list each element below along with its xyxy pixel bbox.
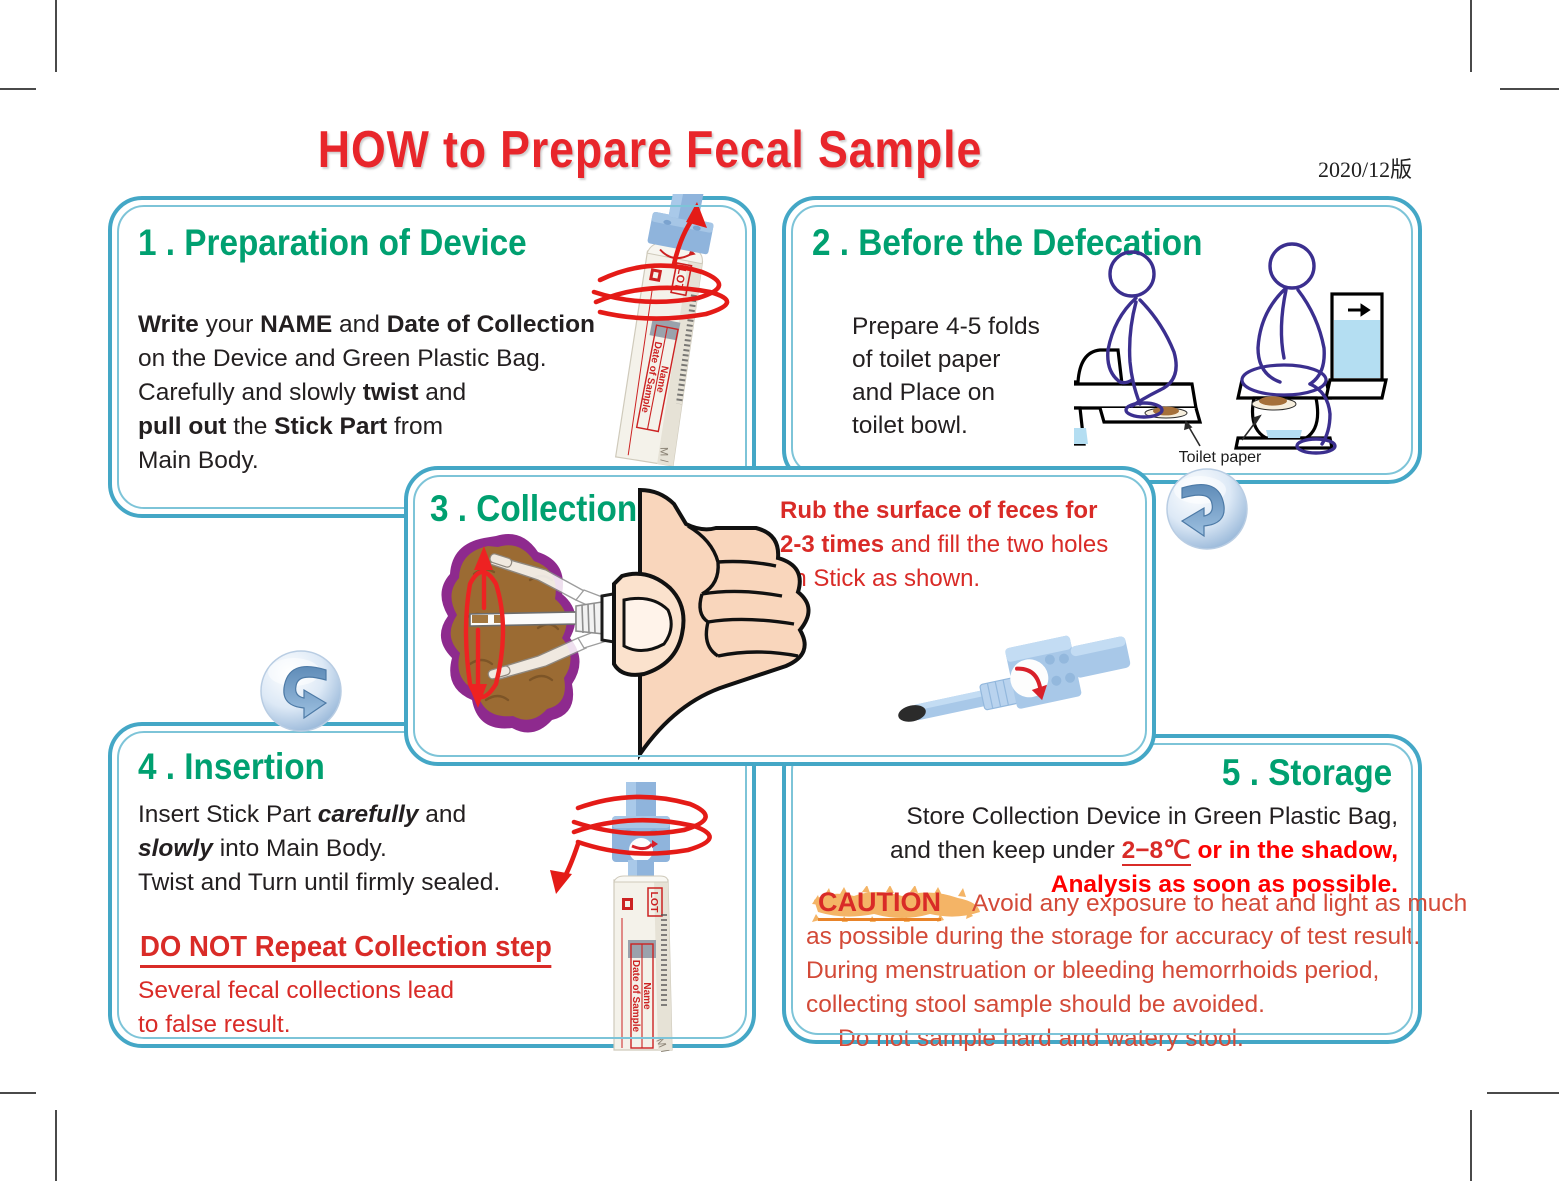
panel-4-heading: 4 . Insertion xyxy=(138,746,325,788)
crop-mark-bottom-left-vertical xyxy=(55,1110,57,1181)
crop-mark-top-right-horizontal xyxy=(1500,88,1559,90)
panel-1-title: Preparation of Device xyxy=(184,222,526,263)
storage-line-2-prefix: and then keep under xyxy=(890,837,1115,864)
panel-2-line-3: and Place on xyxy=(852,376,1040,409)
panel-3-instruction-line-2: and fill the two holes xyxy=(884,531,1108,558)
panel-2-number: 2 xyxy=(812,222,831,263)
device-illustration-step1: LOT Name Date of Sample xyxy=(570,194,760,474)
panel-2-line-2: of toilet paper xyxy=(852,343,1040,376)
svg-text:Name: Name xyxy=(641,982,652,1010)
panel-1-number: 1 xyxy=(138,222,157,263)
crop-mark-bottom-left-horizontal xyxy=(0,1092,36,1094)
panel-1-text: Write your NAME and Date of Collection o… xyxy=(138,308,595,478)
svg-text:LOT: LOT xyxy=(648,892,660,914)
crop-mark-bottom-right-vertical xyxy=(1470,1110,1472,1181)
storage-line-1: Store Collection Device in Green Plastic… xyxy=(786,800,1398,834)
panel-collection: 3 . Collection Rub the surface of feces … xyxy=(404,466,1156,766)
toilet-paper-callout: Toilet paper xyxy=(1179,449,1262,466)
collection-stick-detail xyxy=(886,608,1136,740)
panel-insertion: 4 . Insertion Insert Stick Part carefull… xyxy=(108,722,756,1048)
panel-2-line-4: toilet bowl. xyxy=(852,409,1040,442)
crop-mark-top-left-horizontal xyxy=(0,88,36,90)
storage-line-2-suffix: or in the shadow, xyxy=(1197,837,1398,864)
panel-3-instruction: Rub the surface of feces for 2-3 times a… xyxy=(780,494,1108,596)
storage-temperature: 2−8℃ xyxy=(1122,837,1191,866)
arrow-3-to-4 xyxy=(258,648,344,734)
caution-line-3: During menstruation or bleeding hemorrho… xyxy=(806,954,1406,988)
crop-mark-bottom-right-horizontal xyxy=(1487,1092,1559,1094)
panel-4-warning-line-2: to false result. xyxy=(138,1008,454,1042)
panel-4-number: 4 xyxy=(138,746,157,787)
panel-4-title: Insertion xyxy=(184,746,325,787)
caution-line-1: Avoid any exposure to heat and light as … xyxy=(972,890,1467,918)
page-title: HOW to Prepare Fecal Sample xyxy=(91,120,1209,180)
panel-5-heading: 5 . Storage xyxy=(1222,752,1392,794)
panel-2-line-1: Prepare 4-5 folds xyxy=(852,310,1040,343)
caution-line-2: as possible during the storage for accur… xyxy=(806,920,1406,954)
panel-5-title: Storage xyxy=(1268,752,1392,793)
storage-line-2: and then keep under 2−8℃ or in the shado… xyxy=(786,834,1398,868)
caution-line-5: Do not sample hard and watery stool. xyxy=(806,1022,1406,1056)
panel-before-the-defecation: 2 . Before the Defecation Prepare 4-5 fo… xyxy=(782,196,1422,484)
panel-4-warning-text: Several fecal collections lead to false … xyxy=(138,974,454,1042)
arrow-2-to-3 xyxy=(1164,466,1250,552)
svg-text:Date of Sample: Date of Sample xyxy=(630,960,641,1033)
panel-storage: 5 . Storage Store Collection Device in G… xyxy=(782,734,1422,1044)
toilet-illustrations: Toilet paper xyxy=(1074,232,1414,468)
panel-4-text: Insert Stick Part carefully and slowly i… xyxy=(138,798,500,900)
panel-4-warning-line-1: Several fecal collections lead xyxy=(138,974,454,1008)
crop-mark-top-right-vertical xyxy=(1470,0,1472,72)
panel-5-number: 5 xyxy=(1222,752,1241,793)
caution-line-4: collecting stool sample should be avoide… xyxy=(806,988,1406,1022)
caution-label: CAUTION xyxy=(818,887,941,921)
device-illustration-step4: LOT Name Date of Sample M / F xyxy=(542,782,742,1052)
panel-3-instruction-line-3: on Stick as shown. xyxy=(780,562,1108,596)
panel-2-text: Prepare 4-5 folds of toilet paper and Pl… xyxy=(852,310,1040,442)
panel-1-heading: 1 . Preparation of Device xyxy=(138,222,527,264)
crop-mark-top-left-vertical xyxy=(55,0,57,72)
revision-date: 2020/12版 xyxy=(1318,152,1412,184)
collection-hand-illustration xyxy=(426,488,816,760)
panel-4-warning-heading: DO NOT Repeat Collection step xyxy=(140,931,552,968)
panel-3-instruction-line-1: Rub the surface of feces for xyxy=(780,494,1108,528)
